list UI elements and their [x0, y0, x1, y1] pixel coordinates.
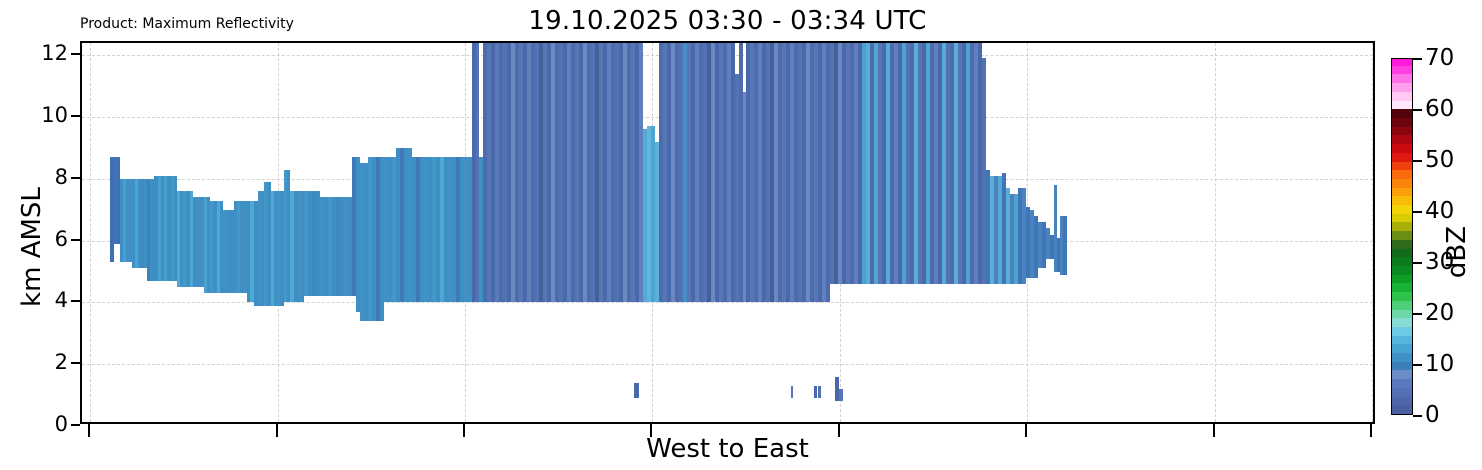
colorbar-segment [1392, 379, 1412, 388]
y-axis-tick-labels: 024681012 [0, 0, 68, 470]
y-axis-tick [71, 362, 80, 364]
y-axis-tick [71, 424, 80, 426]
colorbar-segment [1392, 231, 1412, 240]
colorbar-tick [1413, 364, 1422, 366]
colorbar-segment [1392, 91, 1412, 100]
reflectivity-column [634, 383, 639, 398]
colorbar-segment [1392, 283, 1412, 292]
colorbar-segment [1392, 204, 1412, 213]
x-axis-tick [650, 424, 652, 437]
colorbar-segment [1392, 109, 1412, 118]
colorbar-tick [1413, 109, 1422, 111]
colorbar-tick [1413, 415, 1422, 417]
colorbar-tick [1413, 160, 1422, 162]
colorbar-segment [1392, 222, 1412, 231]
colorbar-segment [1392, 178, 1412, 187]
reflectivity-column [791, 386, 793, 398]
colorbar-tick [1413, 211, 1422, 213]
colorbar-segment [1392, 196, 1412, 205]
colorbar-segment [1392, 344, 1412, 353]
reflectivity-column [839, 389, 843, 401]
colorbar-segment [1392, 370, 1412, 379]
colorbar-segment [1392, 292, 1412, 301]
colorbar-segment [1392, 58, 1412, 66]
colorbar-segment [1392, 135, 1412, 144]
colorbar-segment [1392, 274, 1412, 283]
x-axis-tick [838, 424, 840, 437]
y-axis-tick [71, 300, 80, 302]
y-axis-tick-label: 8 [55, 165, 68, 189]
colorbar-segment [1392, 352, 1412, 361]
x-axis-label: West to East [80, 434, 1375, 464]
colorbar-segment [1392, 143, 1412, 152]
colorbar-segment [1392, 265, 1412, 274]
colorbar-tick-label: 40 [1425, 198, 1454, 224]
colorbar-segment [1392, 248, 1412, 257]
y-axis-tick-label: 0 [55, 412, 68, 436]
y-axis-tick [71, 115, 80, 117]
y-axis-tick-label: 12 [41, 41, 68, 65]
plot-area [80, 41, 1375, 424]
x-axis-tick [463, 424, 465, 437]
colorbar-tick-label: 20 [1425, 300, 1454, 326]
colorbar-segment [1392, 300, 1412, 309]
x-axis-tick [276, 424, 278, 437]
colorbar-segment [1392, 318, 1412, 327]
reflectivity-data [82, 43, 1373, 422]
colorbar-segment [1392, 100, 1412, 109]
colorbar-segment [1392, 361, 1412, 370]
colorbar-segment [1392, 326, 1412, 335]
colorbar-segment [1392, 161, 1412, 170]
colorbar-tick [1413, 58, 1422, 60]
y-axis-tick [71, 177, 80, 179]
colorbar-segment [1392, 405, 1412, 414]
colorbar-tick-label: 30 [1425, 249, 1454, 275]
colorbar-segment [1392, 213, 1412, 222]
colorbar-tick-label: 0 [1425, 402, 1440, 428]
colorbar-segment [1392, 152, 1412, 161]
x-axis-tick [1025, 424, 1027, 437]
colorbar-segment [1392, 257, 1412, 266]
colorbar [1391, 58, 1413, 415]
y-axis-tick-label: 2 [55, 350, 68, 374]
reflectivity-column [1063, 216, 1067, 275]
colorbar-tick-label: 10 [1425, 351, 1454, 377]
y-axis-tick [71, 53, 80, 55]
y-axis-tick-label: 10 [41, 103, 68, 127]
colorbar-tick [1413, 313, 1422, 315]
colorbar-segment [1392, 396, 1412, 405]
colorbar-segment [1392, 309, 1412, 318]
y-axis-tick-label: 6 [55, 227, 68, 251]
radar-cross-section-figure: Product: Maximum Reflectivity 19.10.2025… [0, 0, 1482, 470]
reflectivity-column [814, 386, 817, 398]
x-axis-tick [1213, 424, 1215, 437]
colorbar-segment [1392, 117, 1412, 126]
colorbar-segment [1392, 74, 1412, 83]
colorbar-segment [1392, 65, 1412, 74]
colorbar-tick [1413, 262, 1422, 264]
x-axis-tick [1370, 424, 1372, 437]
colorbar-tick-label: 50 [1425, 147, 1454, 173]
chart-title: 19.10.2025 03:30 - 03:34 UTC [80, 6, 1375, 36]
colorbar-segment [1392, 239, 1412, 248]
colorbar-segment [1392, 126, 1412, 135]
colorbar-segment [1392, 187, 1412, 196]
colorbar-segment [1392, 83, 1412, 92]
y-axis-tick-label: 4 [55, 288, 68, 312]
colorbar-tick-label: 60 [1425, 96, 1454, 122]
x-axis-tick [88, 424, 90, 437]
colorbar-segment [1392, 335, 1412, 344]
colorbar-segment [1392, 387, 1412, 396]
colorbar-tick-label: 70 [1425, 45, 1454, 71]
y-axis-tick [71, 239, 80, 241]
colorbar-segment [1392, 170, 1412, 179]
reflectivity-column [818, 386, 821, 398]
